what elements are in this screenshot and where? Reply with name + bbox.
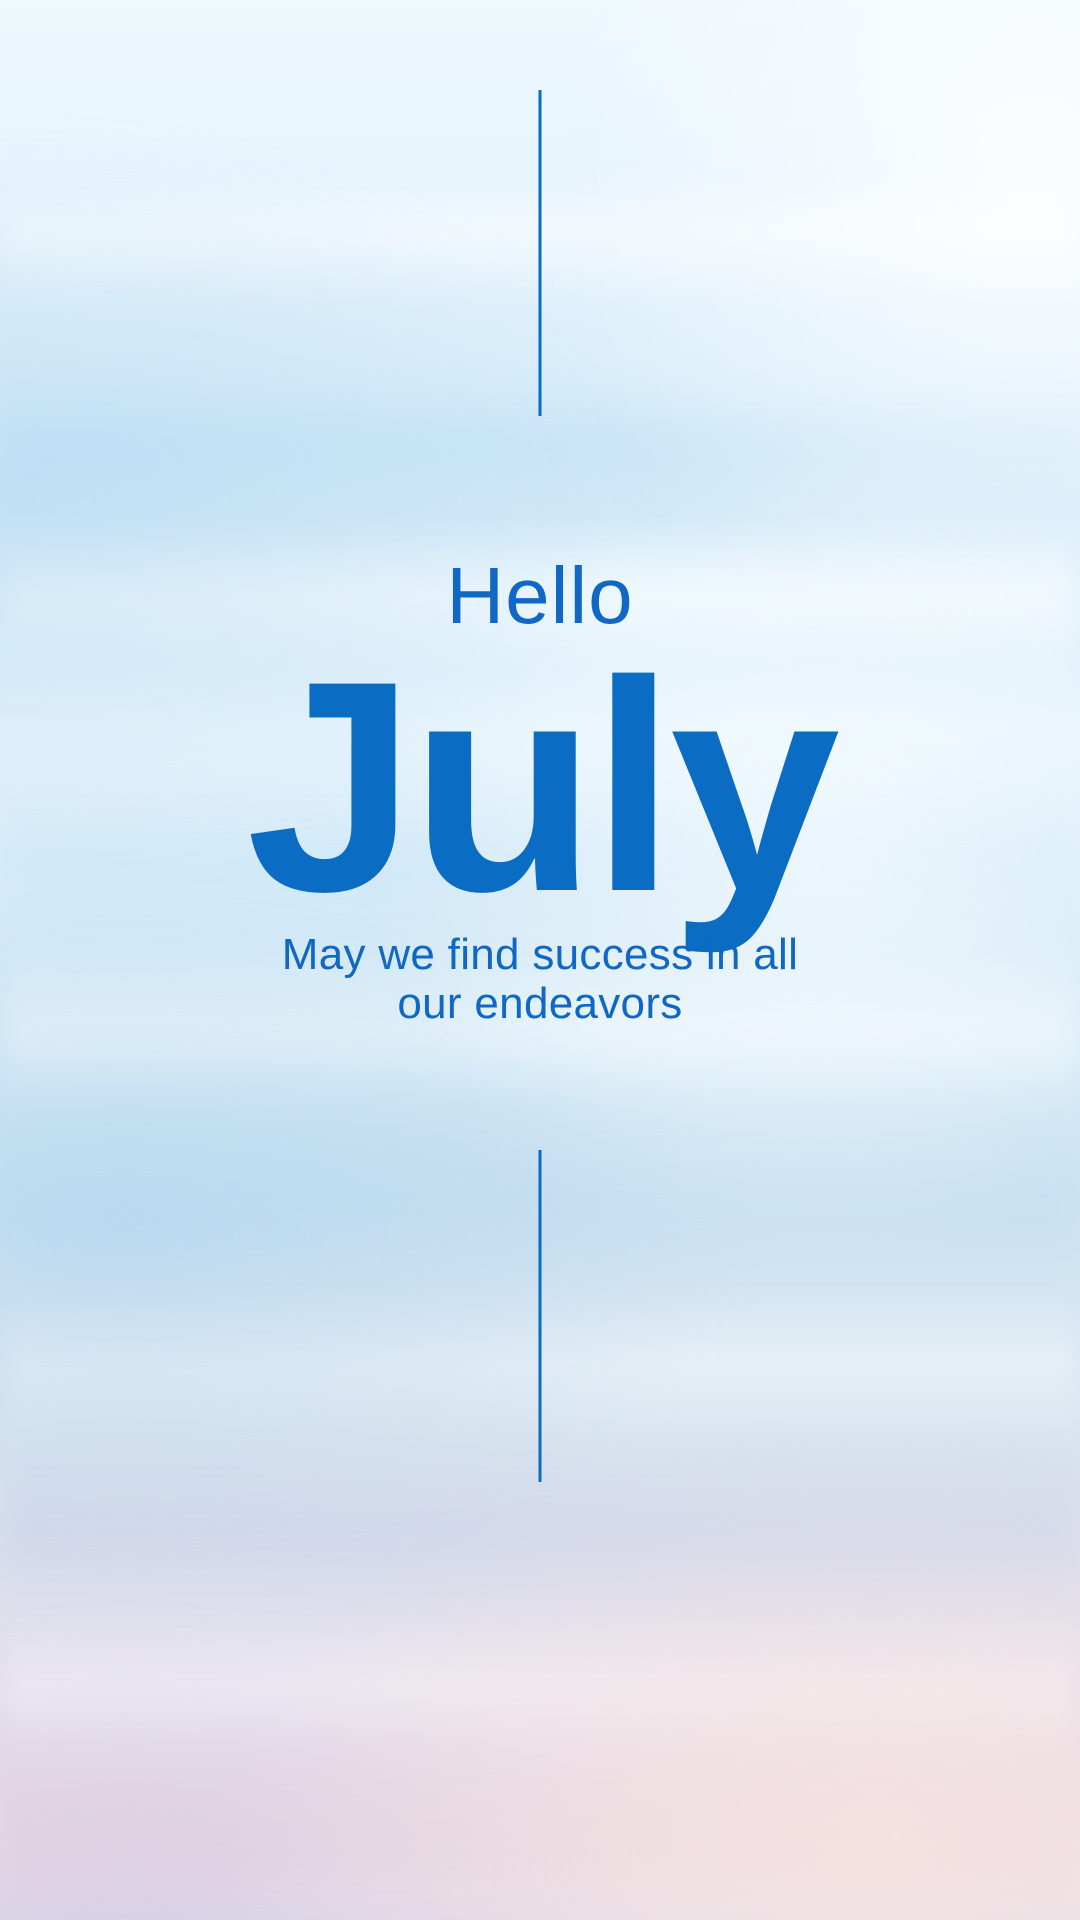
vertical-rule-bottom bbox=[539, 1150, 542, 1482]
tagline-line-1: May we find success in all bbox=[0, 930, 1080, 979]
vertical-rule-top bbox=[539, 90, 542, 416]
tagline-line-2: our endeavors bbox=[0, 979, 1080, 1028]
tagline: May we find success in all our endeavors bbox=[0, 930, 1080, 1029]
poster-canvas: Hello July May we find success in all ou… bbox=[0, 0, 1080, 1920]
greeting-month: July bbox=[0, 636, 1080, 936]
poster-content: Hello July May we find success in all ou… bbox=[0, 0, 1080, 1920]
